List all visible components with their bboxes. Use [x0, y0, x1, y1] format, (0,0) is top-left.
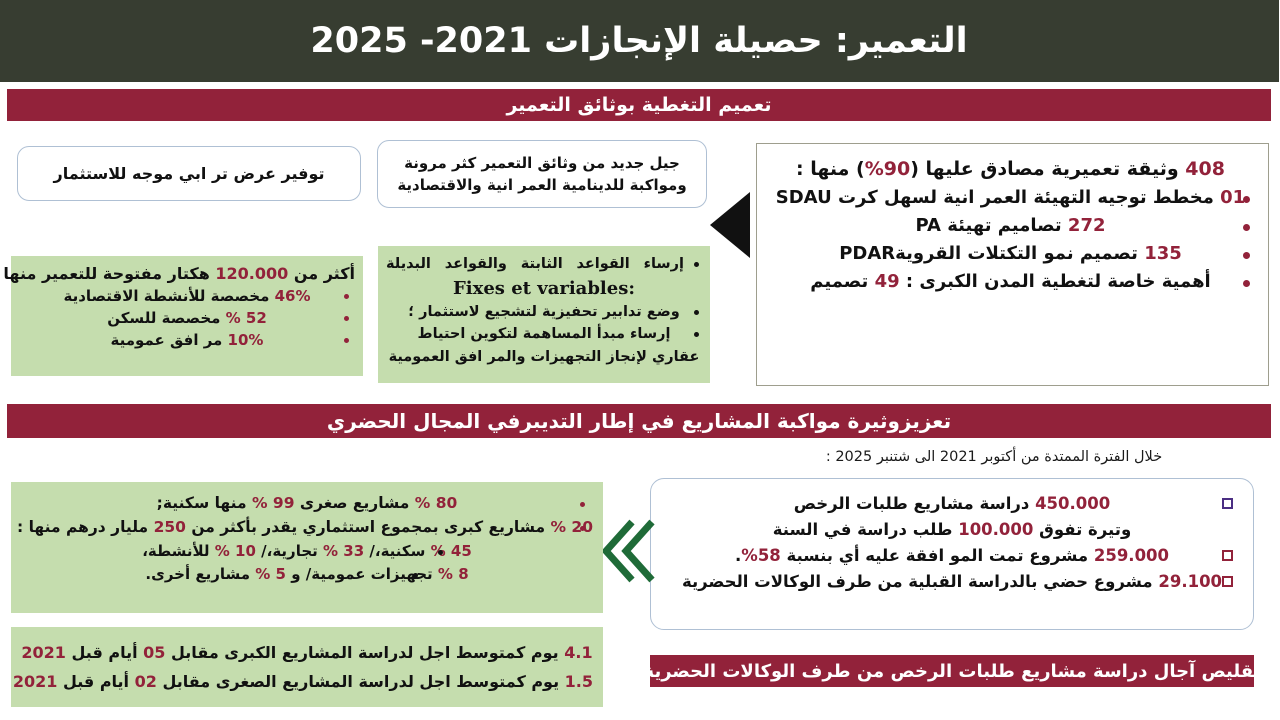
sub-0-p4: 10 % [216, 542, 257, 560]
urbanism-documents-box: 408 وثيقة تعميرية مصادق عليها (90%) منها… [757, 143, 1270, 386]
list-item: 45 % سكنية،/ 33 % تجارية،/ 10 % للأنشطة، [22, 542, 594, 560]
sub-1-p3: مشاريع أخرى. [146, 565, 251, 583]
hectares-box: أكثر من 120.000 هكتار مفتوحة للتعمير منه… [12, 256, 364, 376]
bullet-dot-icon [345, 338, 350, 343]
hectares-list: 46% مخصصة للأنشطة الاقتصادية 52 % مخصصة … [20, 287, 356, 349]
projects-box: 80 % مشاريع صغرى 99 % منها سكنية; 20 % م… [12, 482, 604, 613]
delay-0-value3: 2021 [22, 643, 67, 662]
list-item: 52 % مخصصة للسكن [20, 309, 356, 327]
doc-item-3-label-after: تصميم [811, 271, 869, 292]
delay-1-mid2: أيام قبل [64, 672, 130, 691]
study-item-1-number: 100.000 [959, 520, 1034, 539]
bullet-dot-icon [345, 294, 350, 299]
rules-bullet-1: إرساء القواعد الثابتة والقواعد البديلة [387, 256, 685, 272]
delay-1-mid: يوم كمتوسط اجل لدراسة المشاريع الصغرى مق… [163, 672, 560, 691]
hectares-headline: أكثر من 120.000 هكتار مفتوحة للتعمير منه… [20, 264, 356, 283]
rules-bullet-2: وضع تدابير تحفيزية لتشجيع لاستثمار ؛ [409, 304, 680, 320]
delay-1-value2: 02 [136, 672, 158, 691]
bullet-dot-icon [1244, 280, 1251, 287]
documents-headline-percent: 90% [866, 158, 912, 180]
doc-item-2-label: تصميم نمو التكتلات القرويةPDAR [840, 243, 1139, 264]
list-item: 46% مخصصة للأنشطة الاقتصادية [20, 287, 356, 305]
list-item: إرساء القواعد الثابتة والقواعد البديلة [387, 255, 703, 275]
checkbox-icon [1223, 576, 1234, 587]
study-item-3-label: مشروع حضي بالدراسة القبلية من طرف الوكال… [683, 572, 1154, 591]
rules-bullet-3-continuation: عقاري لإنجاز التجهيزات والمر افق العمومي… [387, 348, 703, 368]
sub-1-p0: 8 % [439, 565, 470, 583]
bullet-dot-icon [581, 526, 586, 531]
study-item-0-label: دراسة مشاريع طلبات الرخص [795, 494, 1031, 513]
delay-0-value: 4.1 [565, 643, 593, 662]
bullet-dot-icon [1244, 196, 1251, 203]
left-triangle-arrow-icon [711, 192, 751, 258]
hectares-item-1-value: 52 % [227, 309, 268, 327]
list-item: 450.000 دراسة مشاريع طلبات الرخص [666, 494, 1240, 513]
section1-banner-label: تعميم التغطية بوثائق التعمير [507, 94, 772, 116]
hectares-headline-before: أكثر من [295, 264, 356, 283]
list-item: 20 % مشاريع كبرى بمجموع استثماري يقدر بأ… [22, 518, 594, 536]
sub-0-p5: للأنشطة، [143, 542, 210, 560]
rules-list-2: وضع تدابير تحفيزية لتشجيع لاستثمار ؛ إرس… [387, 303, 703, 345]
section1-banner: تعميم التغطية بوثائق التعمير [8, 89, 1272, 121]
bullet-dot-icon [581, 502, 586, 507]
project-item-1-value2: 250 [155, 518, 187, 536]
delay-1-value3: 2021 [14, 672, 59, 691]
list-item: أهمية خاصة لتغطية المدن الكبرى : 49 تصمي… [768, 271, 1255, 292]
checkbox-icon [1223, 550, 1234, 561]
sub-1-p1: تجهيزات عمومية/ و [292, 565, 433, 583]
hectares-item-2-label: مر افق عمومية [112, 331, 224, 349]
study-item-2-percent: 58% [742, 546, 782, 565]
list-item: 10% مر افق عمومية [20, 331, 356, 349]
doc-item-1-number: 272 [1069, 215, 1107, 236]
sub-1-p2: 5 % [256, 565, 287, 583]
hectares-item-0-label: مخصصة للأنشطة الاقتصادية [64, 287, 270, 305]
delay-line-1: 1.5 يوم كمتوسط اجل لدراسة المشاريع الصغر… [22, 672, 594, 691]
study-item-3-number: 29.100 [1159, 572, 1223, 591]
bullet-dot-icon [695, 332, 700, 337]
documents-headline: 408 وثيقة تعميرية مصادق عليها (90%) منها… [768, 158, 1255, 180]
offer-box-text: توفير عرض تر ابي موجه للاستثمار [45, 162, 336, 186]
hectares-item-0-value: 46% [276, 287, 312, 305]
project-item-1-mid: مشاريع كبرى بمجموع استثماري يقدر بأكثر م… [192, 518, 546, 536]
delay-0-value2: 05 [144, 643, 166, 662]
list-item: 80 % مشاريع صغرى 99 % منها سكنية; [22, 494, 594, 512]
sub-0-p0: 45 % [432, 542, 473, 560]
bullet-dot-icon [345, 316, 350, 321]
documents-total-number: 408 [1186, 158, 1226, 180]
list-item: وتيرة تفوق 100.000 طلب دراسة في السنة [666, 520, 1240, 539]
hectares-item-1-label: مخصصة للسكن [108, 309, 221, 327]
list-item: 135 تصميم نمو التكتلات القرويةPDAR [768, 243, 1255, 264]
list-item: إرساء مبدأ المساهمة لتكوين احتياط [387, 325, 703, 345]
doc-item-1-label: تصاميم تهيئة PA [917, 215, 1063, 236]
study-item-1-after: طلب دراسة في السنة [774, 520, 954, 539]
list-item: 29.100 مشروع حضي بالدراسة القبلية من طرف… [666, 572, 1240, 591]
studies-box: 450.000 دراسة مشاريع طلبات الرخص وتيرة ت… [651, 478, 1255, 630]
doc-item-3-label-before: أهمية خاصة لتغطية المدن الكبرى : [907, 271, 1212, 292]
sub-0-p1: سكنية،/ [370, 542, 426, 560]
documents-list: 01 مخطط توجيه التهيئة العمر انية لسهل كر… [768, 187, 1255, 292]
new-generation-box: جيل جديد من وثائق التعمير كثر مرونة وموا… [378, 140, 708, 208]
bullet-dot-icon [439, 550, 444, 555]
hectares-number: 120.000 [216, 264, 289, 283]
delay-0-mid: يوم كمتوسط اجل لدراسة المشاريع الكبرى مق… [172, 643, 560, 662]
rules-bullet-3: إرساء مبدأ المساهمة لتكوين احتياط [419, 326, 672, 342]
bottom-banner: تقليص آجال دراسة مشاريع طلبات الرخص من ط… [651, 655, 1255, 687]
study-item-2-number: 259.000 [1095, 546, 1170, 565]
project-item-0-mid: مشاريع صغرى [301, 494, 411, 512]
study-item-1-before: وتيرة تفوق [1040, 520, 1132, 539]
checkbox-icon [1223, 498, 1234, 509]
projects-list: 80 % مشاريع صغرى 99 % منها سكنية; 20 % م… [22, 494, 594, 536]
project-item-0-value2: 99 % [253, 494, 296, 512]
list-item: 01 مخطط توجيه التهيئة العمر انية لسهل كر… [768, 187, 1255, 208]
list-item: 259.000 مشروع تمت المو افقة عليه أي بنسب… [666, 546, 1240, 565]
projects-sublist: 45 % سكنية،/ 33 % تجارية،/ 10 % للأنشطة،… [22, 542, 594, 583]
doc-item-0-number: 01 [1221, 187, 1246, 208]
page-title-bar: التعمير: حصيلة الإنجازات 2021- 2025 [0, 0, 1280, 82]
rules-list: إرساء القواعد الثابتة والقواعد البديلة [387, 255, 703, 275]
doc-item-2-number: 135 [1145, 243, 1183, 264]
list-item: 8 % تجهيزات عمومية/ و 5 % مشاريع أخرى. [22, 565, 594, 583]
delay-line-0: 4.1 يوم كمتوسط اجل لدراسة المشاريع الكبر… [22, 643, 594, 662]
documents-headline-tail: ) منها : [797, 158, 866, 180]
sub-0-p3: تجارية،/ [262, 542, 319, 560]
double-chevron-left-icon [603, 518, 657, 584]
section2-banner: تعزيزوثيرة مواكبة المشاريع في إطار التدي… [8, 404, 1272, 438]
page-title: التعمير: حصيلة الإنجازات 2021- 2025 [311, 21, 968, 61]
project-item-1-after: مليار درهم منها : [18, 518, 149, 536]
delays-box: 4.1 يوم كمتوسط اجل لدراسة المشاريع الكبر… [12, 627, 604, 707]
project-item-0-after: منها سكنية; [158, 494, 248, 512]
doc-item-0-label: مخطط توجيه التهيئة العمر انية لسهل كرت S… [777, 187, 1215, 208]
sub-0-p2: 33 % [324, 542, 365, 560]
project-item-1-value: 20 % [551, 518, 594, 536]
project-item-0-value: 80 % [416, 494, 459, 512]
delay-0-mid2: أيام قبل [73, 643, 139, 662]
period-note: خلال الفترة الممتدة من أكتوبر 2021 الى ش… [770, 449, 1220, 465]
hectares-item-2-value: 10% [229, 331, 265, 349]
infographic-page: التعمير: حصيلة الإنجازات 2021- 2025 تعمي… [0, 0, 1280, 720]
bullet-dot-icon [695, 310, 700, 315]
bullet-dot-icon [1244, 252, 1251, 259]
bottom-banner-label: تقليص آجال دراسة مشاريع طلبات الرخص من ط… [645, 661, 1262, 682]
bullet-dot-icon [1244, 224, 1251, 231]
hectares-headline-after: هكتار مفتوحة للتعمير منها : [0, 264, 211, 283]
studies-list: 450.000 دراسة مشاريع طلبات الرخص وتيرة ت… [666, 494, 1240, 591]
fixes-variables-line: Fixes et variables: [387, 278, 703, 299]
list-item: وضع تدابير تحفيزية لتشجيع لاستثمار ؛ [387, 303, 703, 323]
section2-banner-label: تعزيزوثيرة مواكبة المشاريع في إطار التدي… [328, 409, 952, 433]
study-item-2-label: مشروع تمت المو افقة عليه أي بنسبة [788, 546, 1090, 565]
delay-1-value: 1.5 [566, 672, 594, 691]
list-item: 272 تصاميم تهيئة PA [768, 215, 1255, 236]
rules-box: إرساء القواعد الثابتة والقواعد البديلة F… [379, 246, 711, 383]
doc-item-3-number: 49 [876, 271, 901, 292]
study-item-0-number: 450.000 [1036, 494, 1111, 513]
documents-headline-text: وثيقة تعميرية مصادق عليها ( [911, 158, 1179, 180]
offer-box: توفير عرض تر ابي موجه للاستثمار [18, 146, 362, 201]
bullet-dot-icon [695, 262, 700, 267]
new-generation-box-text: جيل جديد من وثائق التعمير كثر مرونة وموا… [379, 152, 707, 197]
bullet-dot-icon [414, 573, 419, 578]
